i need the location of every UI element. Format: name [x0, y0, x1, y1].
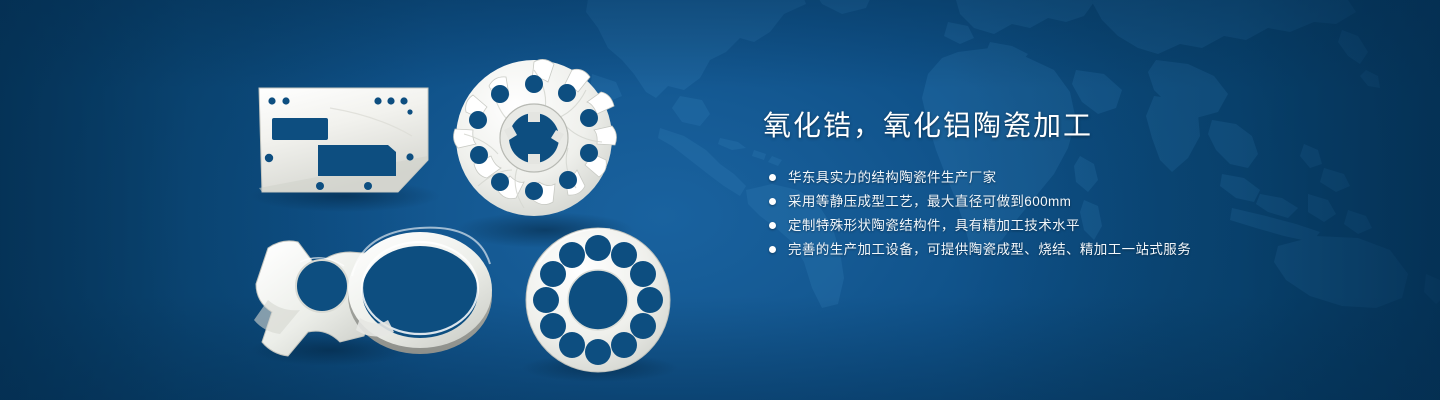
list-item-label: 完善的生产加工设备，可提供陶瓷成型、烧结、精加工一站式服务 — [788, 240, 1191, 260]
page-title: 氧化锆，氧化铝陶瓷加工 — [763, 108, 1383, 144]
ceramic-perforated-disc — [526, 228, 670, 372]
list-item: 采用等静压成型工艺，最大直径可做到600mm — [763, 190, 1383, 213]
ceramic-machined-plate — [259, 88, 428, 192]
hero-banner: 氧化锆，氧化铝陶瓷加工 华东具实力的结构陶瓷件生产厂家 采用等静压成型工艺，最大… — [0, 0, 1440, 400]
list-item: 定制特殊形状陶瓷结构件，具有精加工技术水平 — [763, 214, 1383, 237]
ceramic-vane-impeller — [454, 59, 617, 216]
list-item-label: 华东具实力的结构陶瓷件生产厂家 — [788, 168, 997, 188]
bullet-dot-icon — [769, 222, 776, 229]
list-item-label: 采用等静压成型工艺，最大直径可做到600mm — [788, 192, 1071, 212]
list-item: 华东具实力的结构陶瓷件生产厂家 — [763, 166, 1383, 189]
bullet-dot-icon — [769, 246, 776, 253]
product-collage — [0, 0, 760, 400]
banner-copy: 氧化锆，氧化铝陶瓷加工 华东具实力的结构陶瓷件生产厂家 采用等静压成型工艺，最大… — [763, 108, 1383, 262]
list-item: 完善的生产加工设备，可提供陶瓷成型、烧结、精加工一站式服务 — [763, 238, 1383, 261]
bullet-dot-icon — [769, 174, 776, 181]
list-item-label: 定制特殊形状陶瓷结构件，具有精加工技术水平 — [788, 216, 1080, 236]
bullet-dot-icon — [769, 198, 776, 205]
feature-list: 华东具实力的结构陶瓷件生产厂家 采用等静压成型工艺，最大直径可做到600mm 定… — [763, 166, 1383, 261]
ceramic-ring — [348, 228, 492, 354]
